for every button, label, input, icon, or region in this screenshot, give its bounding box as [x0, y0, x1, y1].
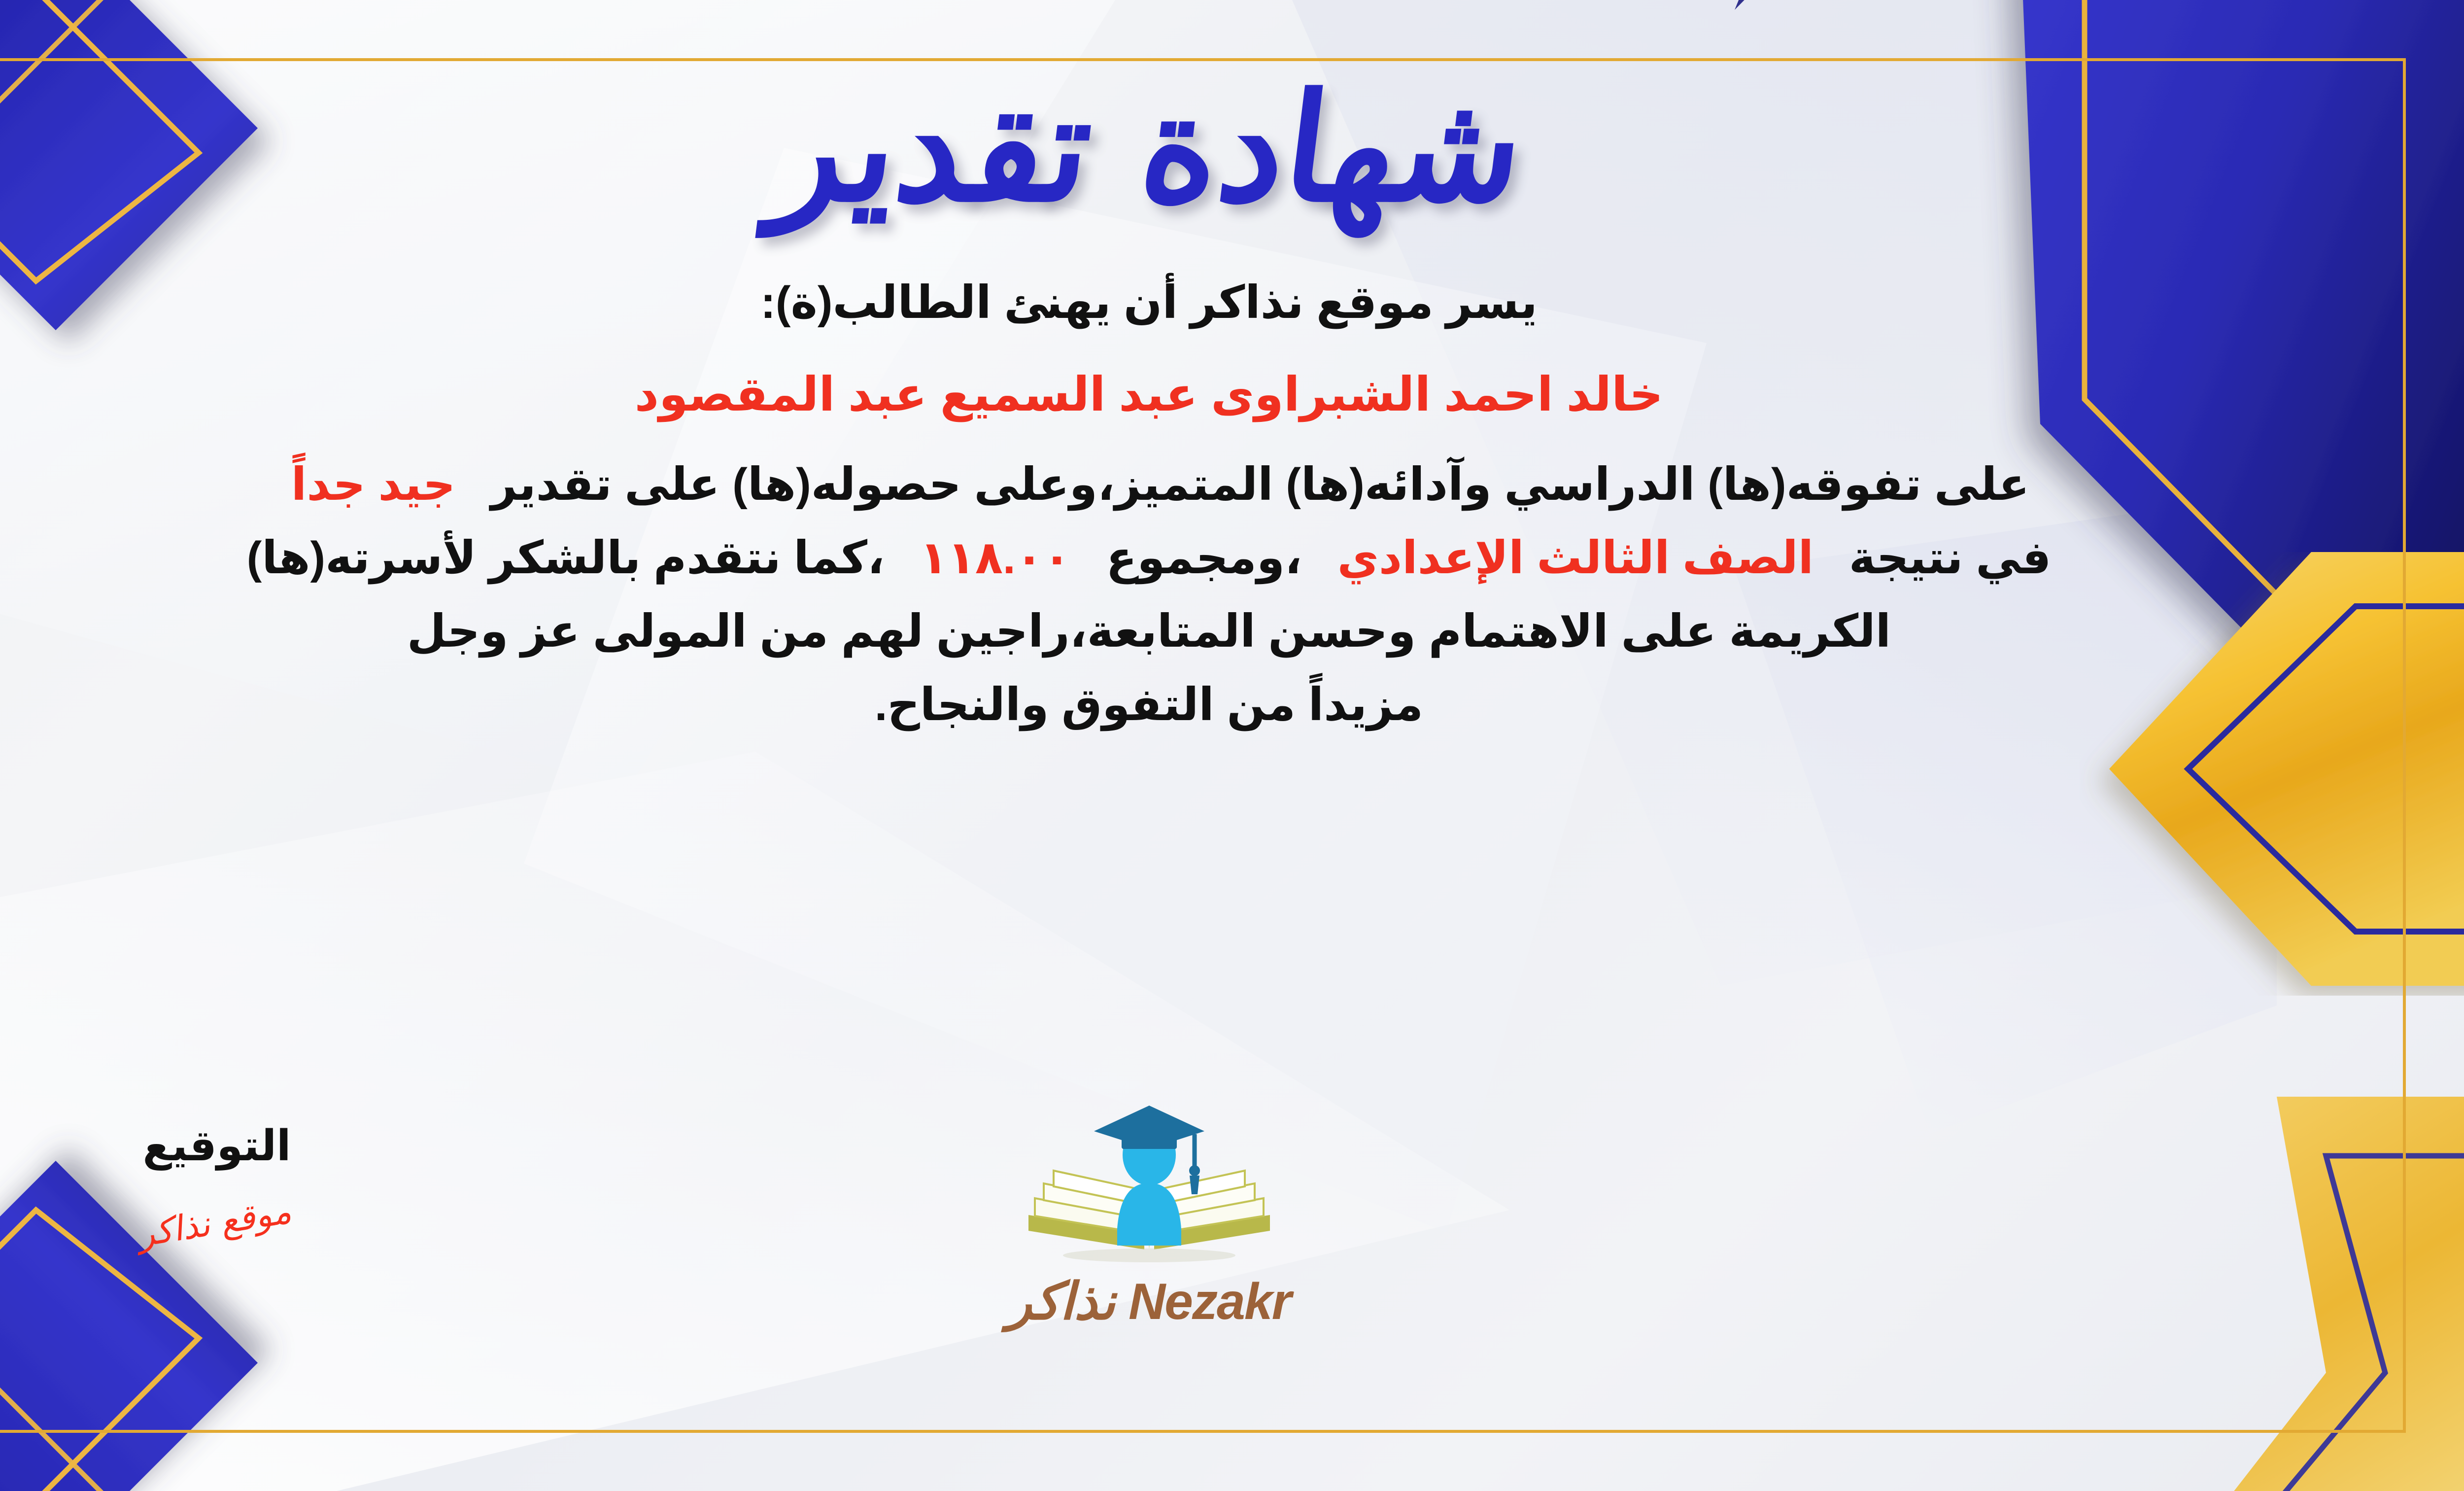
- signature-handwriting: موقع نذاكر: [139, 1190, 295, 1255]
- student-name: خالد احمد الشبراوى عبد السميع عبد المقصو…: [1, 356, 2297, 433]
- total-score-value: ١١٨.٠٠: [897, 533, 1094, 583]
- thanks-text: ،كما نتقدم بالشكر لأسرته(ها): [247, 533, 885, 583]
- total-label: ،ومجموع: [1106, 533, 1302, 583]
- signature-block: التوقيع موقع نذاكر: [30, 1121, 404, 1243]
- certificate-content: شهادة تقدير يسر موقع نذاكر أن يهنئ الطال…: [0, 0, 2464, 1491]
- grade-level-value: الصف الثالث الإعدادي: [1315, 533, 1837, 583]
- family-thanks-line: الكريمة على الاهتمام وحسن المتابعة،راجين…: [1, 595, 2297, 668]
- grade-rating-value: جيد جداً: [269, 459, 479, 510]
- certificate-page: شهادة تقدير يسر موقع نذاكر أن يهنئ الطال…: [0, 0, 2464, 1491]
- brand-logo: Nezakr نذاكر: [927, 1102, 1371, 1331]
- achievement-line: على تفوقه(ها) الدراسي وآدائه(ها) المتميز…: [1, 448, 2297, 521]
- intro-line: يسر موقع نذاكر أن يهنئ الطالب(ة):: [1, 266, 2297, 340]
- result-prefix: في نتيجة: [1849, 533, 2052, 583]
- achievement-text: على تفوقه(ها) الدراسي وآدائه(ها) المتميز…: [491, 459, 2029, 510]
- logo-wordmark: Nezakr نذاكر: [927, 1271, 1371, 1331]
- result-line: في نتيجة الصف الثالث الإعدادي ،ومجموع ١١…: [1, 521, 2297, 595]
- closing-wish-line: مزيداً من التفوق والنجاح.: [1, 668, 2297, 742]
- certificate-footer: التوقيع موقع نذاكر: [0, 1102, 2464, 1407]
- certificate-body: يسر موقع نذاكر أن يهنئ الطالب(ة): خالد ا…: [1, 266, 2297, 742]
- signature-label: التوقيع: [30, 1121, 404, 1171]
- certificate-title: شهادة تقدير: [766, 74, 1532, 222]
- graduate-book-icon: [1011, 1102, 1287, 1274]
